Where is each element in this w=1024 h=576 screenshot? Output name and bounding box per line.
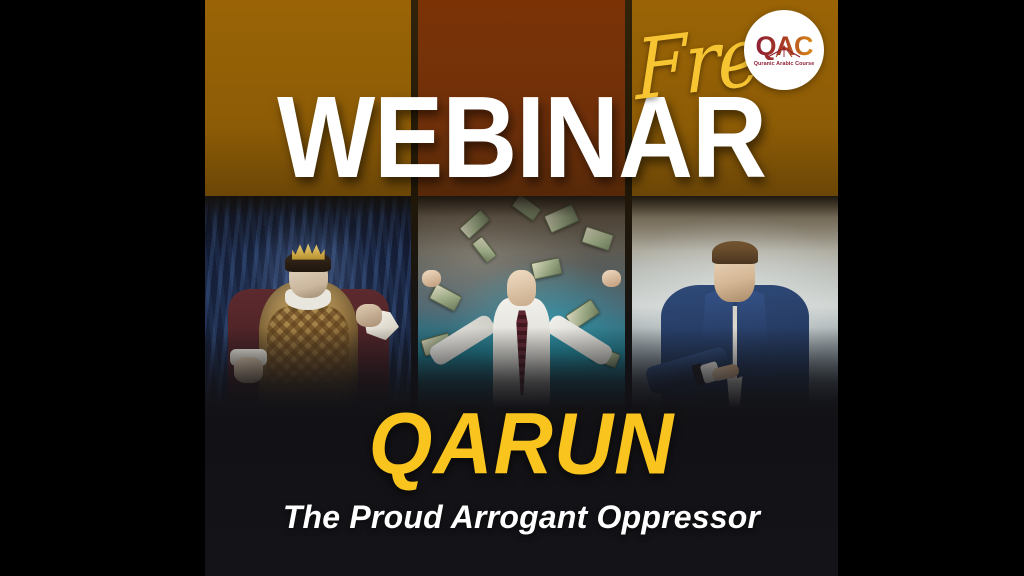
king-left-cuff xyxy=(230,349,267,366)
money-man-right-arm xyxy=(545,312,616,367)
king-handkerchief xyxy=(364,308,399,340)
page-title: QARUN xyxy=(205,402,838,489)
suit-shirt xyxy=(714,306,755,408)
king-robe xyxy=(259,281,358,408)
suit-jacket xyxy=(661,285,810,408)
suit-man-hair xyxy=(712,241,757,264)
banknote-icon xyxy=(421,332,453,356)
pointing-finger-icon xyxy=(711,363,740,382)
photo-strip xyxy=(205,196,838,408)
webinar-poster: WEBINAR Free QARUN The Proud Arrogant Op… xyxy=(205,0,838,576)
panel-suit xyxy=(632,196,838,408)
money-man-right-hand xyxy=(602,270,621,287)
king-right-hand xyxy=(356,304,383,327)
king-robe-pattern xyxy=(267,306,350,399)
banknote-icon xyxy=(472,235,497,262)
money-man-left-hand xyxy=(422,270,441,287)
wristwatch-icon xyxy=(691,362,707,385)
king-collar xyxy=(285,289,330,310)
logo-tagline: Quranic Arabic Course xyxy=(754,62,815,67)
throne-chair xyxy=(228,289,389,408)
letterbox-left xyxy=(0,0,205,576)
suit-man-face xyxy=(714,247,755,302)
suit-man-arm xyxy=(644,346,731,395)
banknote-icon xyxy=(530,257,562,280)
banknote-icon xyxy=(428,283,461,312)
banknote-icon xyxy=(544,203,580,233)
qac-logo: QAC Quranic Arabic Course xyxy=(744,10,824,90)
money-sky xyxy=(418,196,624,408)
panel-money xyxy=(418,196,624,408)
king-hair xyxy=(285,251,330,272)
throne-curtain xyxy=(205,196,411,408)
suit-man-cuff xyxy=(699,362,720,385)
banknote-icon xyxy=(590,344,620,368)
letterbox-right xyxy=(838,0,1024,576)
banknote-icon xyxy=(565,299,600,330)
screenshot-stage: WEBINAR Free QARUN The Proud Arrogant Op… xyxy=(0,0,1024,576)
money-man-necktie xyxy=(516,310,527,395)
king-face xyxy=(289,255,328,297)
logo-wordmark: QAC xyxy=(756,33,813,60)
suit-lapel-right xyxy=(737,285,770,378)
banknote-icon xyxy=(581,226,614,251)
panel-king xyxy=(205,196,411,408)
crown-icon xyxy=(292,243,325,260)
banknote-icon xyxy=(458,209,489,239)
throne-backlight xyxy=(246,213,370,330)
suit-backlight xyxy=(632,196,838,408)
page-subtitle: The Proud Arrogant Oppressor xyxy=(205,500,838,535)
king-left-hand xyxy=(234,357,263,382)
suit-lapel-left xyxy=(700,285,733,378)
money-man-shirt xyxy=(493,298,551,408)
money-man-face xyxy=(507,270,536,306)
money-man-left-arm xyxy=(427,312,498,367)
